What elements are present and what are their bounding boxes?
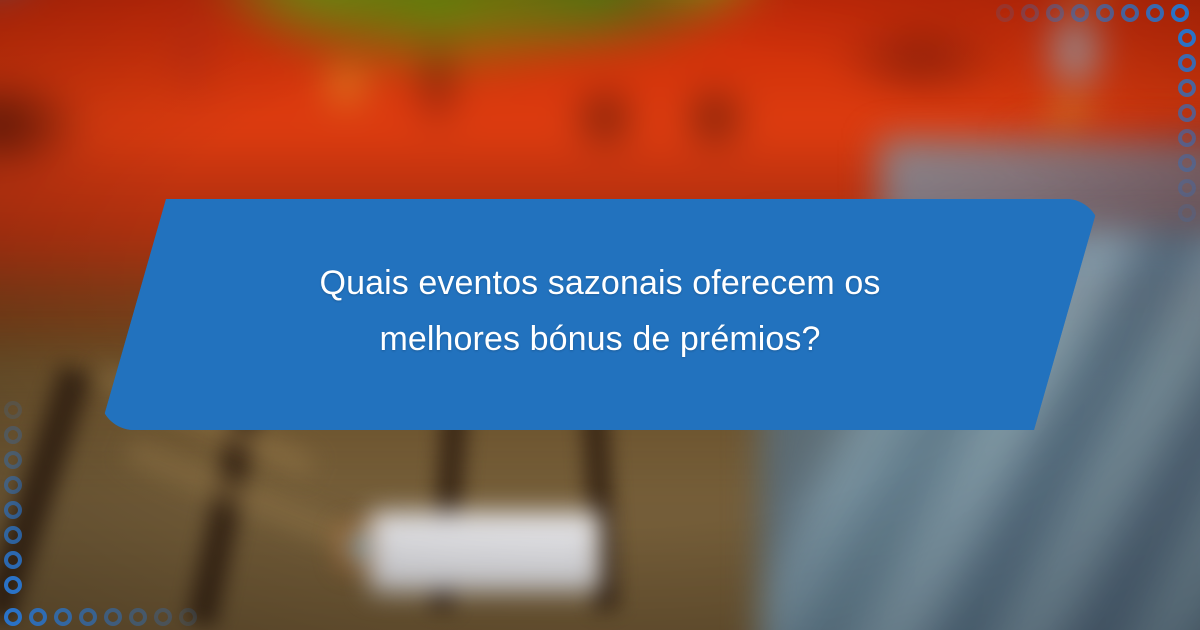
decorative-circle — [129, 608, 147, 626]
decorative-circle — [4, 608, 22, 626]
decorative-circle — [104, 608, 122, 626]
decorative-circle — [1178, 154, 1196, 172]
decorative-circle — [4, 576, 22, 594]
decorative-circle — [1071, 4, 1089, 22]
share-card: Quais eventos sazonais oferecem osmelhor… — [0, 0, 1200, 630]
decorative-circle — [4, 526, 22, 544]
question-banner: Quais eventos sazonais oferecem osmelhor… — [100, 199, 1100, 430]
decorative-circle — [1171, 4, 1189, 22]
decorative-circle — [1178, 104, 1196, 122]
question-line-1: Quais eventos sazonais oferecem os — [320, 256, 881, 311]
decorative-circle — [4, 476, 22, 494]
decorative-circle — [1178, 129, 1196, 147]
dot-cluster-right — [1178, 29, 1196, 229]
decorative-circle — [1046, 4, 1064, 22]
decorative-circle — [4, 401, 22, 419]
decorative-circle — [54, 608, 72, 626]
decorative-circle — [4, 551, 22, 569]
decorative-circle — [4, 426, 22, 444]
decorative-circle — [79, 608, 97, 626]
decorative-circle — [1146, 4, 1164, 22]
decorative-circle — [1178, 79, 1196, 97]
decorative-circle — [1178, 179, 1196, 197]
dot-cluster-top-right — [996, 4, 1196, 22]
background-paper-object — [370, 512, 600, 592]
decorative-circle — [1096, 4, 1114, 22]
decorative-circle — [154, 608, 172, 626]
decorative-circle — [179, 608, 197, 626]
decorative-circle — [29, 608, 47, 626]
decorative-circle — [1178, 54, 1196, 72]
decorative-circle — [996, 4, 1014, 22]
decorative-circle — [4, 501, 22, 519]
dot-cluster-bottom-left — [4, 608, 204, 626]
decorative-circle — [4, 451, 22, 469]
dot-cluster-left — [4, 401, 22, 601]
decorative-circle — [1121, 4, 1139, 22]
question-line-2: melhores bónus de prémios? — [320, 312, 881, 367]
question-text: Quais eventos sazonais oferecem osmelhor… — [320, 256, 881, 372]
decorative-circle — [1178, 204, 1196, 222]
decorative-circle — [1178, 29, 1196, 47]
decorative-circle — [1021, 4, 1039, 22]
